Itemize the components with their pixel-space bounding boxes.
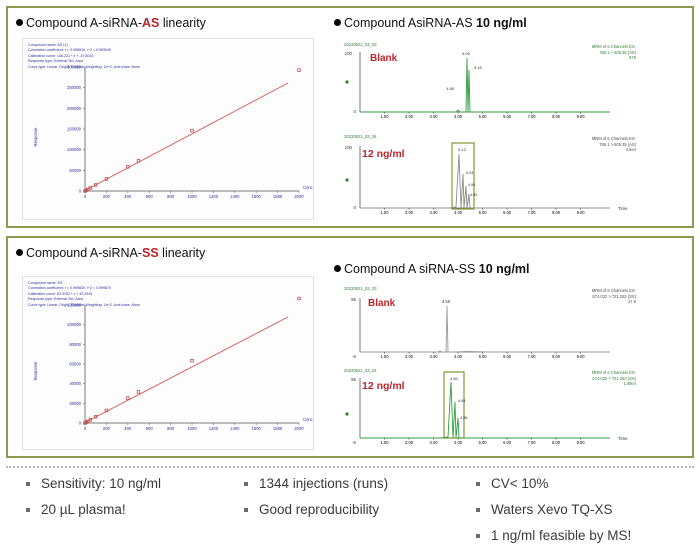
svg-text:4.80: 4.80 [450,376,459,381]
svg-text:100: 100 [345,51,353,56]
svg-text:5.16: 5.16 [474,65,483,70]
svg-text:4.84: 4.84 [458,398,466,403]
svg-text:6.00: 6.00 [503,440,512,445]
svg-text:3.00: 3.00 [430,440,439,445]
list-item: 1344 injections (runs) [244,476,462,493]
calibration-card-ss: Compound name: SS Correlation coefficien… [22,276,314,450]
bullet-icon [334,19,341,26]
svg-text:8.00: 8.00 [552,440,561,445]
square-bullet-icon [476,534,480,538]
svg-text:0: 0 [79,189,82,194]
svg-text:60000: 60000 [69,362,81,367]
svg-text:9.00: 9.00 [577,354,586,359]
svg-text:1.00: 1.00 [381,354,390,359]
svg-text:-5: -5 [352,440,356,445]
summary-section: Sensitivity: 10 ng/ml 20 µL plasma! 1344… [6,466,694,550]
panel-ss-right-title: Compound A siRNA-SS 10 ng/ml [334,262,530,276]
poster-page: Compound A-siRNA-AS linearity Compound A… [0,0,700,554]
list-item-label: 1344 injections (runs) [259,476,388,493]
list-item-label: Sensitivity: 10 ng/ml [41,476,161,493]
calibration-plot-as: 300000250000200000150000100000500000 020… [23,39,315,221]
svg-text:2.00: 2.00 [405,440,414,445]
svg-text:400: 400 [124,194,132,199]
x-axis-label: Conc [303,417,313,422]
chromatogram-as-12ngml: 20220521_03_04 MRM of 6 Channels ES- 786… [338,134,638,226]
svg-text:1800: 1800 [273,426,283,431]
svg-text:80000: 80000 [69,342,81,347]
svg-text:95: 95 [351,377,356,382]
svg-text:1.00: 1.00 [381,114,390,119]
svg-text:0: 0 [84,426,87,431]
svg-text:0: 0 [354,205,357,210]
svg-text:0: 0 [84,194,87,199]
list-item-label: 1 ng/ml feasible by MS! [491,528,631,545]
square-bullet-icon [244,508,248,512]
square-bullet-icon [244,482,248,486]
svg-text:1400: 1400 [230,426,240,431]
panel-as-left-title: Compound A-siRNA-AS linearity [16,16,206,30]
svg-text:1000: 1000 [187,426,197,431]
svg-text:8.00: 8.00 [552,210,561,215]
svg-text:7.00: 7.00 [528,114,537,119]
svg-text:3.00: 3.00 [430,354,439,359]
svg-text:2.00: 2.00 [405,210,414,215]
svg-text:150000: 150000 [67,127,82,132]
svg-text:4.00: 4.00 [454,354,463,359]
svg-text:200000: 200000 [67,106,82,111]
svg-text:9.00: 9.00 [577,114,586,119]
svg-text:2000: 2000 [294,426,304,431]
list-item-label: CV< 10% [491,476,548,493]
title-prefix: Compound A-siRNA- [26,16,142,30]
title-suffix: linearity [159,16,206,30]
square-bullet-icon [26,482,30,486]
svg-text:0: 0 [79,421,82,426]
svg-text:7.00: 7.00 [528,440,537,445]
svg-text:1200: 1200 [209,426,219,431]
chromatogram-plot: 95 -5 4.80 4.84 4.86 1.002.003.004.005.0… [338,368,638,456]
chromatogram-plot: 95 -5 4.56 1.002.003.004.005.006.007.008… [338,286,638,370]
svg-text:4.56: 4.56 [442,299,451,304]
svg-text:200: 200 [103,426,111,431]
x-axis-label: Conc [303,185,313,190]
svg-text:5.00: 5.00 [479,114,488,119]
square-bullet-icon [476,508,480,512]
chromatogram-plot: 100 0 5.12 5.04 4.96 4.89 1.002.003.004.… [338,134,638,226]
svg-text:100000: 100000 [67,147,82,152]
svg-text:200: 200 [103,194,111,199]
list-item: 1 ng/ml feasible by MS! [476,528,696,545]
svg-text:20000: 20000 [69,401,81,406]
title-prefix: Compound A-siRNA- [26,246,142,260]
svg-text:4.00: 4.00 [454,440,463,445]
svg-text:1400: 1400 [230,194,240,199]
svg-text:100000: 100000 [67,322,82,327]
svg-text:4.96: 4.96 [468,183,475,187]
svg-text:1000: 1000 [187,194,197,199]
svg-text:100: 100 [345,145,353,150]
svg-text:1800: 1800 [273,194,283,199]
title-bold: 10 ng/ml [476,16,527,30]
list-item: CV< 10% [476,476,696,493]
square-bullet-icon [26,508,30,512]
y-axis-label: Response [33,361,38,381]
svg-text:95: 95 [351,297,356,302]
summary-column-1: Sensitivity: 10 ng/ml 20 µL plasma! [26,476,246,528]
bullet-icon [16,249,23,256]
svg-text:9.00: 9.00 [577,210,586,215]
panel-as-right-title: Compound AsiRNA-AS 10 ng/ml [334,16,527,30]
panel-sirna-ss: Compound A-siRNA-SS linearity Compound A… [6,236,694,458]
chromatogram-as-blank: 20220521_03_03 MRM of 6 Channels ES- 786… [338,42,638,128]
svg-text:4.00: 4.00 [454,210,463,215]
svg-text:3.00: 3.00 [430,114,439,119]
svg-text:2.00: 2.00 [405,114,414,119]
svg-text:5.00: 5.00 [479,354,488,359]
svg-text:2.00: 2.00 [405,354,414,359]
svg-text:8.00: 8.00 [552,354,561,359]
title-highlight: AS [142,16,159,30]
svg-text:7.00: 7.00 [528,354,537,359]
svg-text:1200: 1200 [209,194,219,199]
svg-text:5.04: 5.04 [466,171,473,175]
bullet-icon [334,265,341,272]
svg-text:2000: 2000 [294,194,304,199]
svg-text:40000: 40000 [69,381,81,386]
y-axis-label: Response [33,127,38,147]
svg-text:1.00: 1.00 [381,440,390,445]
summary-column-3: CV< 10% Waters Xevo TQ-XS 1 ng/ml feasib… [476,476,696,554]
title-suffix: linearity [159,246,206,260]
svg-text:600: 600 [146,194,154,199]
chromatogram-ss-12ngml: 20220521_03_04 MRM of 6 Channels ES- 674… [338,368,638,456]
svg-text:6.00: 6.00 [503,210,512,215]
panel-ss-left-title: Compound A-siRNA-SS linearity [16,246,205,260]
svg-text:4.86: 4.86 [446,86,455,91]
summary-column-2: 1344 injections (runs) Good reproducibil… [244,476,462,528]
svg-text:50000: 50000 [69,168,81,173]
svg-text:-5: -5 [352,354,356,359]
svg-text:6.00: 6.00 [503,354,512,359]
title-prefix: Compound AsiRNA-AS [344,16,476,30]
svg-text:5.00: 5.00 [479,210,488,215]
svg-text:8.00: 8.00 [552,114,561,119]
panel-sirna-as: Compound A-siRNA-AS linearity Compound A… [6,6,694,228]
calibration-plot-ss: 120000100000800006000040000200000 020040… [23,277,315,451]
svg-text:0: 0 [354,109,357,114]
svg-text:250000: 250000 [67,85,82,90]
chromatogram-plot: 100 0 5.05 5.16 4.86 1.002.003.004.005.0… [338,42,638,128]
svg-text:4.00: 4.00 [454,114,463,119]
title-highlight: SS [142,246,159,260]
bullet-icon [16,19,23,26]
svg-text:300000: 300000 [67,65,82,70]
chromatogram-ss-blank: 20220521_03_03 MRM of 6 Channels ES- 674… [338,286,638,370]
title-bold: 10 ng/ml [479,262,530,276]
svg-text:4.89: 4.89 [470,193,477,197]
time-axis-label: Time [618,206,628,211]
svg-text:1600: 1600 [252,426,262,431]
svg-text:6.00: 6.00 [503,114,512,119]
svg-text:5.00: 5.00 [479,440,488,445]
svg-text:5.12: 5.12 [458,147,467,152]
list-item: 20 µL plasma! [26,502,246,519]
svg-text:3.00: 3.00 [430,210,439,215]
svg-text:600: 600 [146,426,154,431]
title-prefix: Compound A siRNA-SS [344,262,479,276]
time-axis-label: Time [618,436,628,441]
list-item: Waters Xevo TQ-XS [476,502,696,519]
list-item: Good reproducibility [244,502,462,519]
list-item-label: 20 µL plasma! [41,502,126,519]
svg-text:9.00: 9.00 [577,440,586,445]
svg-text:800: 800 [167,194,175,199]
svg-text:120000: 120000 [67,303,82,308]
list-item-label: Good reproducibility [259,502,379,519]
calibration-card-as: Compound name: AS (1) Correlation coeffi… [22,38,314,220]
list-item: Sensitivity: 10 ng/ml [26,476,246,493]
square-bullet-icon [476,482,480,486]
svg-text:1600: 1600 [252,194,262,199]
svg-text:4.86: 4.86 [460,415,468,420]
svg-text:400: 400 [124,426,132,431]
svg-text:7.00: 7.00 [528,210,537,215]
list-item-label: Waters Xevo TQ-XS [491,502,613,519]
svg-text:5.05: 5.05 [462,51,471,56]
svg-text:800: 800 [167,426,175,431]
svg-text:1.00: 1.00 [381,210,390,215]
